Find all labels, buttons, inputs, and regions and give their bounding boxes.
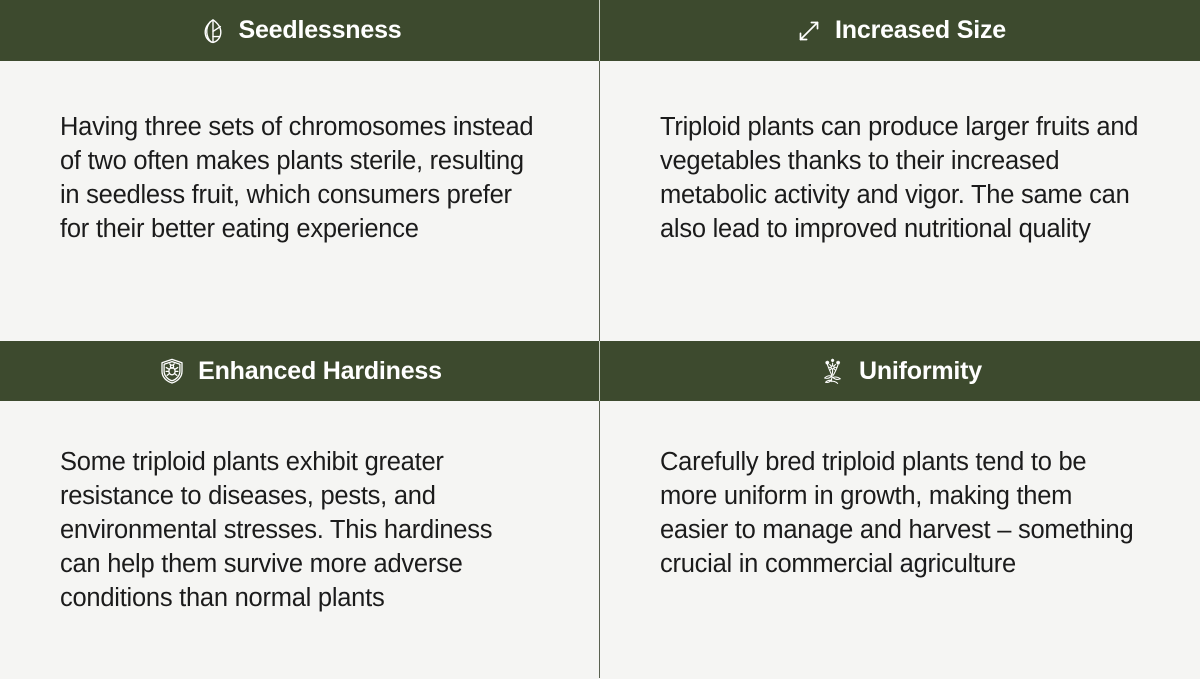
card-body-increased-size: Triploid plants can produce larger fruit… — [600, 61, 1200, 341]
card-description: Triploid plants can produce larger fruit… — [660, 111, 1140, 247]
card-title: Seedlessness — [239, 18, 402, 43]
seed-pod-icon — [198, 16, 228, 46]
card-header-increased-size: Increased Size — [600, 0, 1200, 61]
card-title: Increased Size — [835, 18, 1006, 43]
flower-sprig-icon — [818, 356, 848, 386]
card-description: Having three sets of chromosomes instead… — [60, 111, 539, 247]
card-header-uniformity: Uniformity — [600, 341, 1200, 401]
card-header-seedlessness: Seedlessness — [0, 0, 599, 61]
expand-arrows-icon — [794, 16, 824, 46]
shield-pest-icon — [157, 356, 187, 386]
card-body-uniformity: Carefully bred triploid plants tend to b… — [600, 401, 1200, 678]
card-header-enhanced-hardiness: Enhanced Hardiness — [0, 341, 599, 401]
benefits-grid: Seedlessness Increased Size Having three… — [0, 0, 1200, 679]
card-description: Some triploid plants exhibit greater res… — [60, 446, 539, 616]
card-description: Carefully bred triploid plants tend to b… — [660, 446, 1140, 582]
card-title: Enhanced Hardiness — [198, 359, 442, 384]
card-body-seedlessness: Having three sets of chromosomes instead… — [0, 61, 599, 341]
card-title: Uniformity — [859, 359, 982, 384]
card-body-enhanced-hardiness: Some triploid plants exhibit greater res… — [0, 401, 599, 678]
